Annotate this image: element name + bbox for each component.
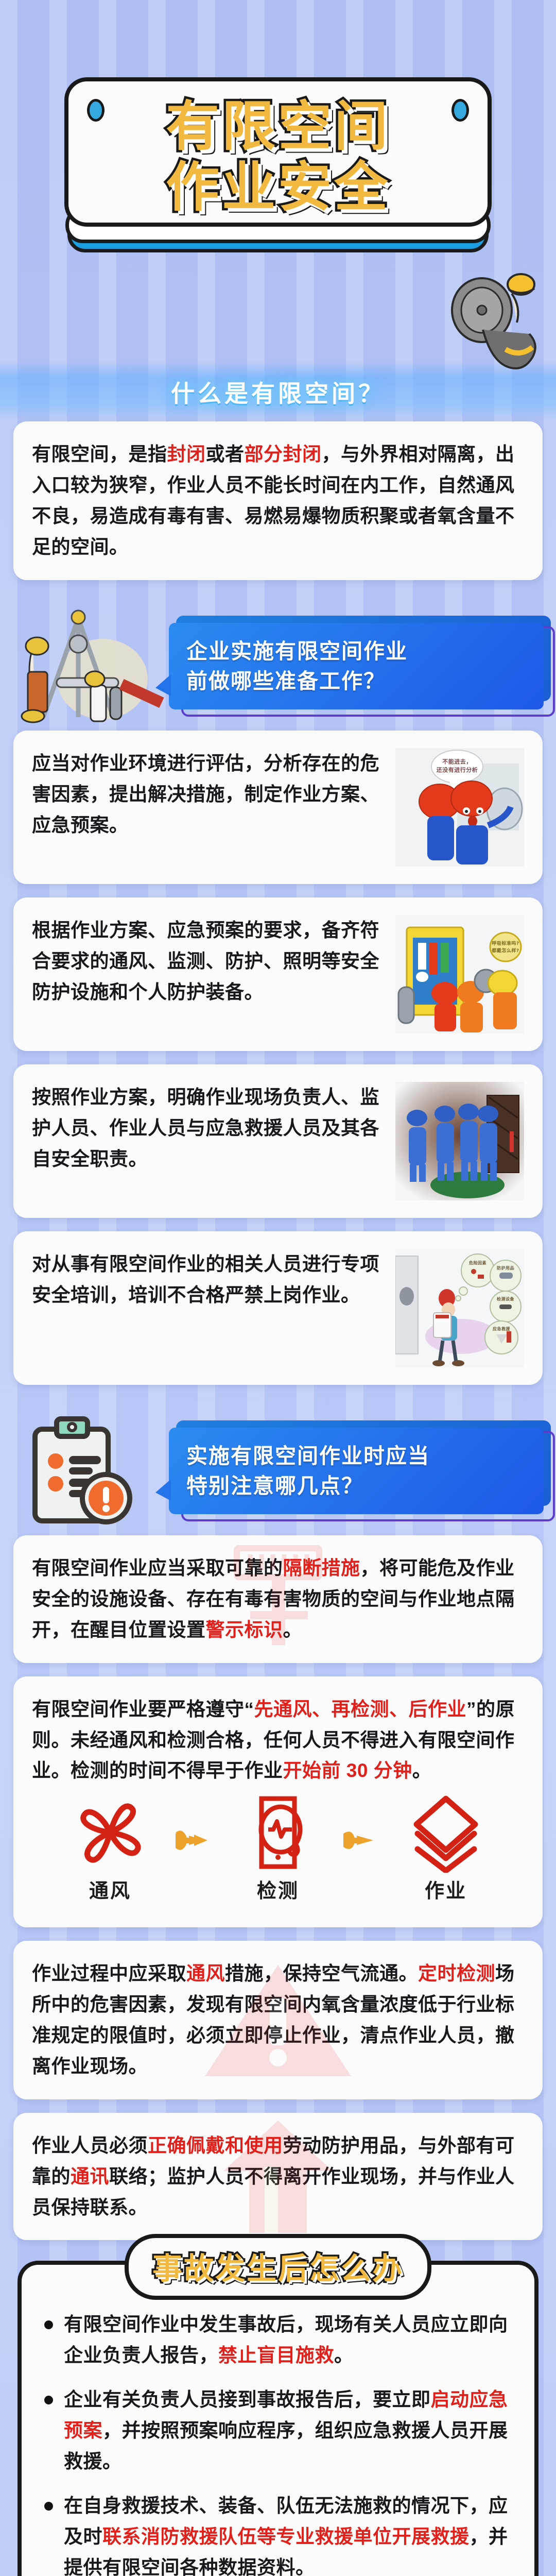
team-briefing-icon: [395, 1082, 524, 1200]
flow-step-detection-label: 检测: [257, 1876, 299, 1908]
list-item: 企业有关负责人员接到事故报告后，要立即启动应急预案，并按照预案响应程序，组织应急…: [42, 2384, 514, 2477]
clipboard-alert-icon: [12, 1412, 167, 1530]
flow-step-operation: 作业: [389, 1795, 502, 1908]
equipment-cabinet-icon: 呼吸标准吗? 都戴怎么样?: [395, 915, 524, 1033]
section-1-heading-band: 什么是有限空间？: [0, 361, 556, 421]
svg-text:还没有进行分析: 还没有进行分析: [436, 766, 478, 773]
fan-icon: [72, 1795, 149, 1873]
arrow-right-icon: [173, 1822, 215, 1858]
section-2-bubble-line-1: 企业实施有限空间作业: [186, 636, 529, 666]
svg-text:呼吸标准吗?: 呼吸标准吗?: [492, 940, 519, 946]
flow-step-ventilation: 通风: [54, 1795, 167, 1908]
list-item: 在自身救援技术、装备、队伍无法施救的情况下，应及时联系消防救援队伍等专业救援单位…: [42, 2490, 514, 2576]
svg-text:防护用品: 防护用品: [497, 1265, 514, 1270]
hero-section: 有限空间 作业安全: [0, 0, 556, 361]
gas-detector-icon: [239, 1795, 317, 1873]
flow-arrow-1: [172, 1822, 216, 1858]
prep-card-4: 对从事有限空间作业的相关人员进行专项安全培训，培训不合格严禁上岗作业。 危险因素…: [13, 1231, 543, 1385]
svg-text:危险因素: 危险因素: [468, 1260, 486, 1265]
section-3-bubble-text: 实施有限空间作业时应当 特别注意哪几点？: [169, 1428, 544, 1514]
svg-text:不能进去，: 不能进去，: [442, 758, 472, 765]
final-card-badge: 事故发生后怎么办: [125, 2234, 431, 2300]
notice-card-1: 有限空间作业应当采取可靠的隔断措施，将可能危及作业安全的设施设备、存在有毒有害物…: [13, 1535, 543, 1663]
prep-card-1: 应当对作业环境进行评估，分析存在的危害因素，提出解决措施，制定作业方案、应急预案…: [13, 731, 543, 884]
section-2-bubble: 企业实施有限空间作业 前做哪些准备工作？: [169, 623, 544, 709]
section-3-heading-row: 实施有限空间作业时应当 特别注意哪几点？: [0, 1398, 556, 1535]
section-2-bubble-text: 企业实施有限空间作业 前做哪些准备工作？: [169, 623, 544, 709]
hero-plate-wrapper: 有限空间 作业安全: [64, 77, 492, 227]
final-card-badge-label: 事故发生后怎么办: [152, 2251, 404, 2286]
svg-text:应急救援: 应急救援: [493, 1326, 510, 1331]
notice-card-4: 作业人员必须正确佩戴和使用劳动防护用品，与外部有可靠的通讯联络；监护人员不得离开…: [13, 2113, 543, 2241]
notice-card-4-text: 作业人员必须正确佩戴和使用劳动防护用品，与外部有可靠的通讯联络；监护人员不得离开…: [32, 2130, 524, 2223]
aftermath-section: 事故发生后怎么办 有限空间作业中发生事故后，现场有关人员应立即向企业负责人报告，…: [18, 2261, 538, 2576]
section-3-bubble-line-1: 实施有限空间作业时应当: [186, 1441, 529, 1471]
flow-step-ventilation-label: 通风: [89, 1876, 131, 1908]
infographic-poster: 有限空间 作业安全 什么是有限空间？ 有限空间，是指封闭或者部分封闭，与外界相对…: [0, 0, 556, 2576]
ventilation-detection-operation-flow: 通风 检测: [32, 1786, 524, 1910]
prep-card-2: 根据作业方案、应急预案的要求，备齐符合要求的通风、监测、防护、照明等安全防护设施…: [13, 897, 543, 1051]
hero-screw-dot-right: [451, 99, 469, 122]
svg-text:检测设备: 检测设备: [497, 1296, 514, 1301]
notice-card-2: 有限空间作业要严格遵守“先通风、再检测、后作业”的原则。未经通风和检测合格，任何…: [13, 1676, 543, 1927]
svg-text:都戴怎么样?: 都戴怎么样?: [491, 947, 519, 954]
notice-card-3: 作业过程中应采取通风措施，保持空气流通。定时检测场所中的危害因素，发现有限空间内…: [13, 1941, 543, 2099]
definition-text: 有限空间，是指封闭或者部分封闭，与外界相对隔离，出入口较为狭窄，作业人员不能长时…: [32, 439, 524, 563]
prep-card-3: 按照作业方案，明确作业现场负责人、监护人员、作业人员与应急救援人员及其各自安全职…: [13, 1064, 543, 1218]
aftermath-list: 有限空间作业中发生事故后，现场有关人员应立即向企业负责人报告，禁止盲目施救。 企…: [42, 2309, 514, 2576]
prep-card-1-text: 应当对作业环境进行评估，分析存在的危害因素，提出解决措施，制定作业方案、应急预案…: [32, 748, 388, 841]
section-3-bubble: 实施有限空间作业时应当 特别注意哪几点？: [169, 1428, 544, 1514]
flow-arrow-2: [340, 1822, 384, 1858]
hero-title-plate: 有限空间 作业安全: [64, 77, 492, 227]
section-1-heading: 什么是有限空间？: [0, 361, 556, 421]
section-2-bubble-line-2: 前做哪些准备工作？: [186, 666, 529, 696]
prep-card-2-text: 根据作业方案、应急预案的要求，备齐符合要求的通风、监测、防护、照明等安全防护设施…: [32, 915, 388, 1008]
section-3-bubble-line-2: 特别注意哪几点？: [186, 1471, 529, 1501]
notice-card-1-text: 有限空间作业应当采取可靠的隔断措施，将可能危及作业安全的设施设备、存在有毒有害物…: [32, 1553, 524, 1646]
page-title-line-2: 作业安全: [166, 158, 390, 216]
prep-card-4-text: 对从事有限空间作业的相关人员进行专项安全培训，培训不合格严禁上岗作业。: [32, 1249, 388, 1311]
two-workers-warning-icon: 不能进去， 还没有进行分析: [395, 748, 524, 867]
list-item: 有限空间作业中发生事故后，现场有关人员应立即向企业负责人报告，禁止盲目施救。: [42, 2309, 514, 2371]
hero-screw-dot-left: [87, 99, 105, 122]
definition-card: 有限空间，是指封闭或者部分封闭，与外界相对隔离，出入口较为狭窄，作业人员不能长时…: [13, 421, 543, 580]
notice-card-2-text: 有限空间作业要严格遵守“先通风、再检测、后作业”的原则。未经通风和检测合格，任何…: [32, 1694, 524, 1787]
flow-step-detection: 检测: [221, 1795, 335, 1908]
page-title-line-1: 有限空间: [166, 97, 390, 155]
notice-card-3-text: 作业过程中应采取通风措施，保持空气流通。定时检测场所中的危害因素，发现有限空间内…: [32, 1958, 524, 2082]
arrow-right-icon: [341, 1822, 383, 1858]
safety-training-board-icon: 危险因素 防护用品 检测设备 应急救援: [395, 1249, 524, 1367]
section-2-heading-row: 企业实施有限空间作业 前做哪些准备工作？: [0, 594, 556, 731]
prep-card-3-text: 按照作业方案，明确作业现场负责人、监护人员、作业人员与应急救援人员及其各自安全职…: [32, 1082, 388, 1175]
flow-step-operation-label: 作业: [425, 1876, 467, 1908]
layers-chevron-icon: [407, 1795, 484, 1873]
final-card: 有限空间作业中发生事故后，现场有关人员应立即向企业负责人报告，禁止盲目施救。 企…: [18, 2261, 538, 2576]
tripod-rescue-winch-icon: [12, 607, 167, 725]
